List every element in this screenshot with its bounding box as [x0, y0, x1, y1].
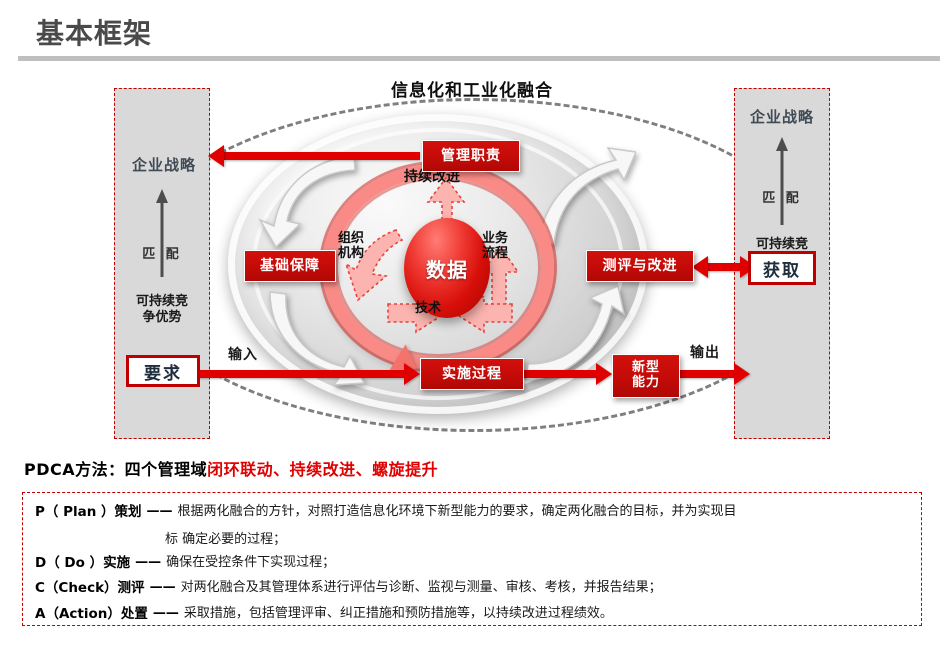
pdca-item-plan-key: P（ Plan ）策划 [35, 503, 142, 521]
organization-label-line2: 机构 [338, 247, 364, 262]
basic-support-box[interactable]: 基础保障 [244, 250, 336, 282]
new-capability-line1: 新型 [632, 361, 660, 376]
arrow-implementation-to-capability-head [596, 363, 612, 385]
continuous-improvement-label: 持续改进 [404, 170, 460, 186]
organization-label: 组织 机构 [338, 232, 364, 261]
data-sphere-label: 数据 [426, 254, 468, 283]
pdca-item-plan: P（ Plan ）策划 —— 根据两化融合的方针，对照打造信息化环境下新型能力的… [35, 503, 911, 521]
evaluation-improvement-box[interactable]: 测评与改进 [586, 250, 694, 282]
pdca-item-check-key: C（Check）测评 [35, 579, 145, 597]
business-process-label-line1: 业务 [482, 232, 508, 247]
right-panel-strategy-label: 企业战略 [735, 106, 829, 127]
pdca-item-do-dash: —— [130, 554, 166, 572]
arrow-evaluation-acquire-line [706, 263, 742, 271]
business-process-label-line2: 流程 [482, 247, 508, 262]
pdca-item-plan-dash: —— [142, 503, 178, 521]
left-match-label: 匹 配 [115, 243, 209, 262]
management-responsibility-box[interactable]: 管理职责 [422, 140, 520, 172]
technology-label: 技术 [415, 302, 441, 317]
pdca-item-do-text: 确保在受控条件下实现过程； [166, 554, 335, 572]
pdca-heading-black: PDCA方法：四个管理域 [24, 460, 207, 479]
acquire-box[interactable]: 获取 [748, 251, 816, 285]
left-advantage-line1: 可持续竞 [115, 294, 209, 310]
pdca-item-plan-text: 根据两化融合的方针，对照打造信息化环境下新型能力的要求，确定两化融合的目标，并为… [178, 503, 737, 521]
arrow-management-to-strategy-line [224, 152, 420, 160]
pdca-item-check: C（Check）测评 —— 对两化融合及其管理体系进行评估与诊断、监视与测量、审… [35, 579, 911, 597]
right-match-label: 匹 配 [735, 187, 829, 206]
pdca-list: P（ Plan ）策划 —— 根据两化融合的方针，对照打造信息化环境下新型能力的… [35, 503, 911, 630]
pdca-description-box: P（ Plan ）策划 —— 根据两化融合的方针，对照打造信息化环境下新型能力的… [22, 492, 922, 626]
left-advantage-line2: 争优势 [115, 310, 209, 326]
arrow-capability-to-output-line [680, 370, 736, 378]
arrow-requirement-to-implementation-line [196, 370, 406, 378]
diagram-stage: 信息化和工业化融合 企业战略 匹 配 可持续竞 争优势 企业战略 匹 配 [0, 66, 944, 461]
pdca-heading-red: 闭环联动、持续改进、螺旋提升 [207, 460, 438, 479]
pdca-item-action: A（Action）处置 —— 采取措施，包括管理评审、纠正措施和预防措施等，以持… [35, 605, 911, 623]
input-label: 输入 [228, 344, 258, 364]
arrow-capability-to-output-head [734, 363, 750, 385]
pdca-item-check-text: 对两化融合及其管理体系进行评估与诊断、监视与测量、审核、考核，并报告结果； [181, 579, 662, 597]
arrow-evaluation-acquire-head-left [692, 256, 708, 278]
requirement-box[interactable]: 要求 [126, 355, 200, 387]
pdca-heading: PDCA方法：四个管理域闭环联动、持续改进、螺旋提升 [24, 456, 438, 480]
slide-page: 基本框架 信息化和工业化融合 企业战略 匹 配 可持续竞 争优势 企业战略 [0, 0, 944, 657]
organization-label-line1: 组织 [338, 232, 364, 247]
arrow-requirement-to-implementation-head [404, 363, 420, 385]
title-divider [18, 56, 940, 61]
new-capability-box[interactable]: 新型 能力 [612, 354, 680, 398]
new-capability-line2: 能力 [632, 376, 660, 391]
arrow-implementation-to-capability-line [524, 370, 598, 378]
pdca-item-check-dash: —— [145, 579, 181, 597]
page-title: 基本框架 [36, 12, 152, 52]
right-match-arrow-icon [775, 137, 789, 225]
left-match-arrow-icon [155, 189, 169, 277]
pdca-item-do-key: D（ Do ）实施 [35, 554, 130, 572]
left-panel-strategy-label: 企业战略 [117, 154, 211, 175]
arrow-management-to-strategy-head [208, 145, 224, 167]
business-process-label: 业务 流程 [482, 232, 508, 261]
pdca-item-do: D（ Do ）实施 —— 确保在受控条件下实现过程； [35, 554, 911, 572]
pdca-item-plan-continuation: 标 确定必要的过程； [165, 528, 911, 547]
pdca-item-action-dash: —— [148, 605, 184, 623]
output-label: 输出 [690, 342, 720, 362]
pdca-item-action-text: 采取措施，包括管理评审、纠正措施和预防措施等，以持续改进过程绩效。 [184, 605, 613, 623]
implementation-process-box[interactable]: 实施过程 [420, 358, 524, 390]
pdca-item-action-key: A（Action）处置 [35, 605, 148, 623]
left-advantage-label: 可持续竞 争优势 [115, 294, 209, 327]
